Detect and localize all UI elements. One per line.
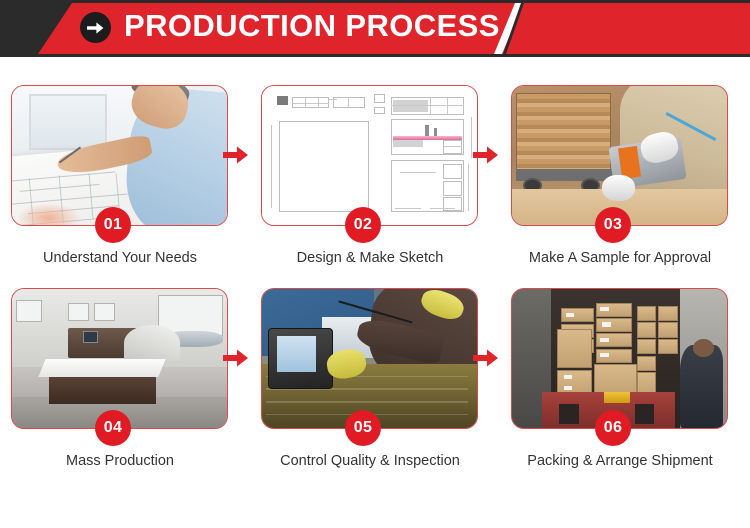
process-step-3[interactable]: 03 Make A Sample for Approval [500, 85, 750, 288]
arrow-right-circle-icon [80, 12, 111, 43]
page-header: PRODUCTION PROCESS [0, 0, 750, 57]
step-4-card[interactable] [11, 288, 228, 429]
step-5-number-badge: 05 [345, 410, 381, 446]
step-2-number-badge: 02 [345, 207, 381, 243]
step-2-arrow-icon [472, 143, 500, 167]
step-3-caption: Make A Sample for Approval [500, 250, 740, 266]
step-1-caption: Understand Your Needs [0, 250, 240, 266]
process-step-6[interactable]: 06 Packing & Arrange Shipment [500, 288, 750, 491]
step-2-photo [262, 86, 477, 225]
step-5-card[interactable] [261, 288, 478, 429]
step-2-card[interactable] [261, 85, 478, 226]
process-grid: 01 Understand Your Needs [0, 57, 750, 528]
process-row-2: 04 Mass Production [0, 288, 750, 491]
step-6-card[interactable] [511, 288, 728, 429]
step-1-arrow-icon [222, 143, 250, 167]
step-3-photo [512, 86, 727, 225]
step-6-number-badge: 06 [595, 410, 631, 446]
step-6-caption: Packing & Arrange Shipment [500, 453, 740, 469]
step-1-photo [12, 86, 227, 225]
step-1-card[interactable] [11, 85, 228, 226]
step-5-arrow-icon [472, 346, 500, 370]
step-3-number-badge: 03 [595, 207, 631, 243]
step-6-photo [512, 289, 727, 428]
process-row-1: 01 Understand Your Needs [0, 85, 750, 288]
page-title: PRODUCTION PROCESS [124, 8, 500, 44]
step-5-caption: Control Quality & Inspection [250, 453, 490, 469]
step-4-number-badge: 04 [95, 410, 131, 446]
step-4-caption: Mass Production [0, 453, 240, 469]
step-2-caption: Design & Make Sketch [250, 250, 490, 266]
process-step-4[interactable]: 04 Mass Production [0, 288, 250, 491]
step-3-card[interactable] [511, 85, 728, 226]
process-step-1[interactable]: 01 Understand Your Needs [0, 85, 250, 288]
step-4-arrow-icon [222, 346, 250, 370]
process-step-2[interactable]: 02 Design & Make Sketch [250, 85, 500, 288]
step-5-photo [262, 289, 477, 428]
step-1-number-badge: 01 [95, 207, 131, 243]
step-4-photo [12, 289, 227, 428]
process-step-5[interactable]: 05 Control Quality & Inspection [250, 288, 500, 491]
